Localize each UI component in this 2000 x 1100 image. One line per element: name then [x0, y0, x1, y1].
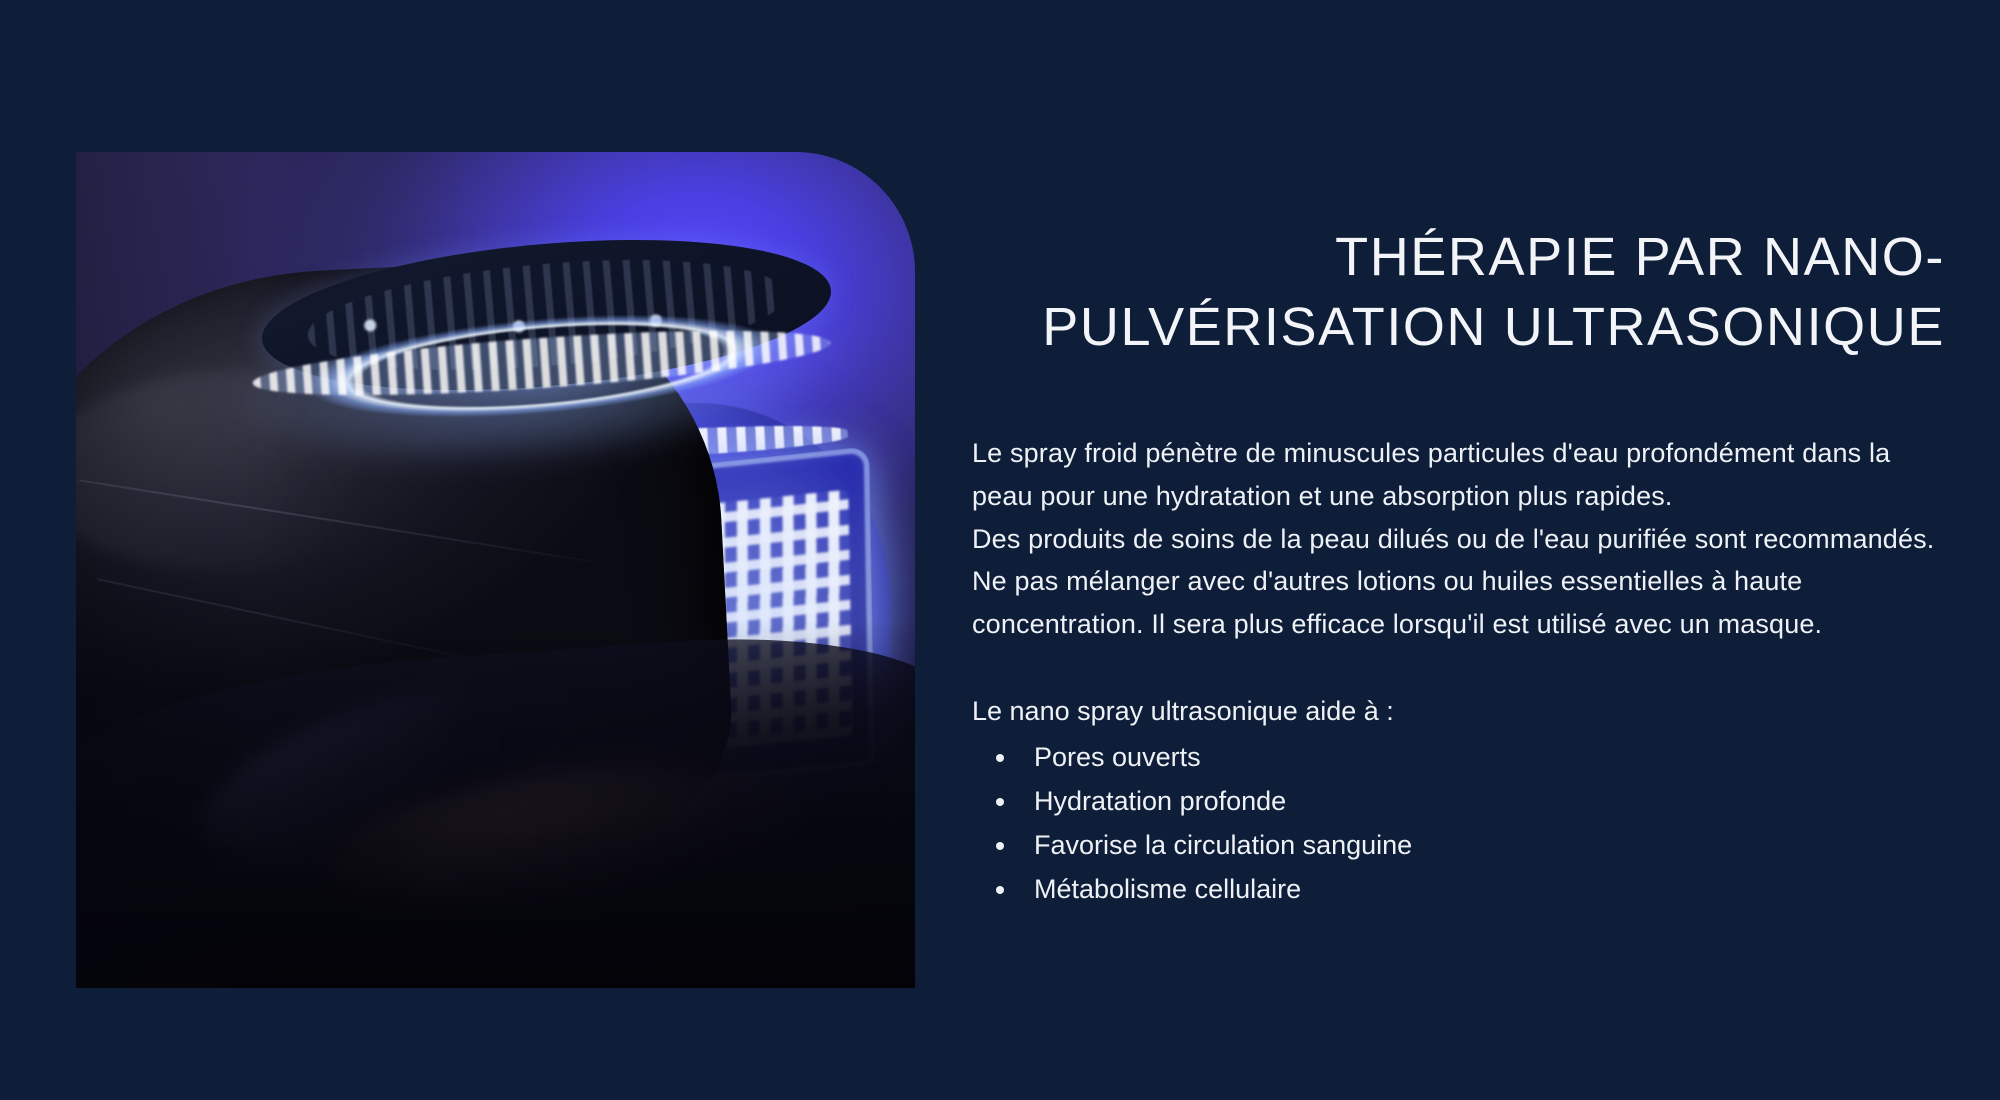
list-item: Métabolisme cellulaire: [972, 868, 1945, 912]
list-item: Favorise la circulation sanguine: [972, 824, 1945, 868]
description-paragraph-1: Le spray froid pénètre de minuscules par…: [972, 432, 1945, 517]
content-column: THÉRAPIE PAR NANO-PULVÉRISATION ULTRASON…: [972, 152, 1945, 911]
description-paragraph-2: Des produits de soins de la peau dilués …: [972, 518, 1945, 646]
photo-illustration: [76, 152, 915, 988]
slide-root: THÉRAPIE PAR NANO-PULVÉRISATION ULTRASON…: [0, 0, 2000, 1100]
photo-left-vignette: [76, 152, 261, 988]
benefits-list: Pores ouverts Hydratation profonde Favor…: [972, 736, 1945, 911]
page-title: THÉRAPIE PAR NANO-PULVÉRISATION ULTRASON…: [972, 222, 1945, 362]
list-item: Pores ouverts: [972, 736, 1945, 780]
benefits-lead-in: Le nano spray ultrasonique aide à :: [972, 690, 1945, 733]
panel-indicator-icon: [363, 319, 376, 332]
list-item: Hydratation profonde: [972, 780, 1945, 824]
treatment-photo: [76, 152, 915, 988]
description-block: Le spray froid pénètre de minuscules par…: [972, 432, 1945, 645]
